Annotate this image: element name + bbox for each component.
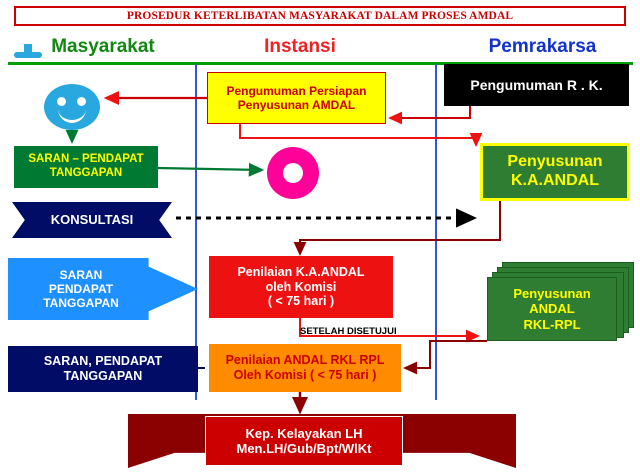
node-penilaian-andal-rkl-rpl[interactable]: Penilaian ANDAL RKL RPL Oleh Komisi ( < … [209, 344, 401, 392]
smiley-stand-base [14, 52, 42, 58]
smiley-eye-left-icon [57, 97, 66, 106]
node-saran-pendapat-tanggapan-1[interactable]: SARAN – PENDAPAT TANGGAPAN [14, 146, 158, 188]
node-saran-pendapat-1-line2: TANGGAPAN [50, 167, 122, 181]
node-penyusunan-andal-rkl-rpl[interactable]: Penyusunan ANDAL RKL-RPL [487, 277, 617, 341]
node-penilaian-ka-andal[interactable]: Penilaian K.A.ANDAL oleh Komisi ( < 75 h… [209, 256, 393, 318]
node-pengumuman-persiapan[interactable]: Pengumuman Persiapan Penyusunan AMDAL [207, 72, 386, 124]
smiley-mouth-icon [58, 106, 86, 123]
smiley-eye-right-icon [77, 97, 86, 106]
flowchart-diagram: PROSEDUR KETERLIBATAN MASYARAKAT DALAM P… [0, 0, 640, 472]
donut-ring-hole [283, 163, 303, 183]
node-kep-kelayakan-lh[interactable]: Kep. Kelayakan LH Men.LH/Gub/Bpt/WlKt [205, 416, 403, 466]
node-saran-pendapat-1-line1: SARAN – PENDAPAT [28, 153, 143, 167]
smiley-face-icon [44, 84, 100, 130]
node-penyusunan-ka-andal[interactable]: Penyusunan K.A.ANDAL [480, 143, 630, 201]
label-setelah-disetujui: SETELAH DISETUJUI [300, 326, 440, 337]
node-pengumuman-rk[interactable]: Pengumuman R . K. [444, 64, 629, 106]
node-saran-pendapat-tanggapan-2[interactable]: SARAN, PENDAPAT TANGGAPAN [8, 346, 198, 392]
node-konsultasi[interactable]: KONSULTASI [12, 202, 172, 238]
